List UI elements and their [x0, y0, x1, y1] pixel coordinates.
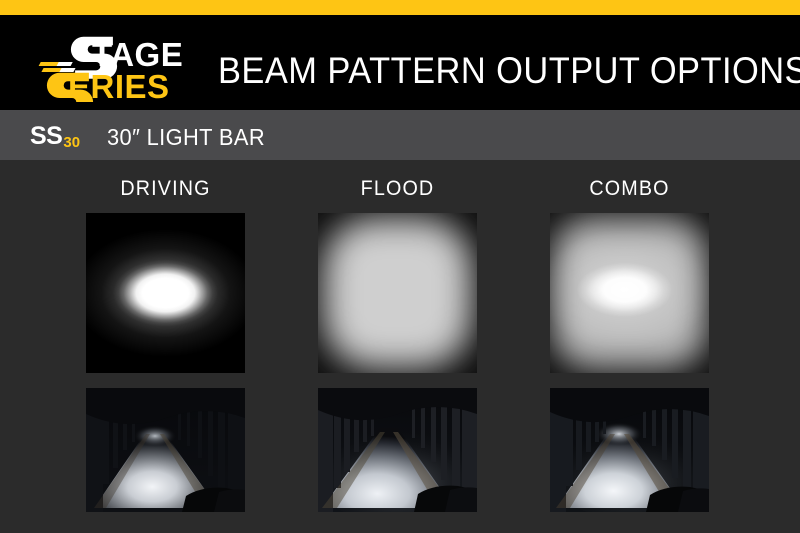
top-accent-stripe	[0, 0, 800, 15]
road-photo-driving	[86, 388, 245, 512]
beam-hotspot-combo	[550, 213, 709, 373]
column-heading-combo: COMBO	[552, 177, 707, 201]
page-title: BEAM PATTERN OUTPUT OPTIONS	[218, 48, 743, 94]
model-badge-suffix: 30	[63, 134, 80, 151]
beam-pattern-infographic: TAGE ERIES BEAM PATTERN OUTPUT OPTIONS S…	[0, 0, 800, 533]
road-photo-combo	[550, 388, 709, 512]
model-badge: SS30	[30, 124, 79, 152]
stage-series-logo: TAGE ERIES	[36, 22, 196, 102]
product-name: 30″ LIGHT BAR	[107, 123, 265, 151]
beam-columns: DRIVING	[0, 160, 800, 533]
column-heading-flood: FLOOD	[320, 177, 475, 201]
column-heading-driving: DRIVING	[88, 177, 243, 201]
beam-pattern-combo	[550, 213, 709, 373]
road-photo-flood	[318, 388, 477, 512]
model-badge-prefix: SS	[30, 122, 62, 150]
beam-glow-flood	[318, 213, 477, 373]
beam-glow-driving	[86, 213, 245, 373]
beam-pattern-driving	[86, 213, 245, 373]
svg-text:ERIES: ERIES	[68, 68, 170, 102]
beam-pattern-flood	[318, 213, 477, 373]
